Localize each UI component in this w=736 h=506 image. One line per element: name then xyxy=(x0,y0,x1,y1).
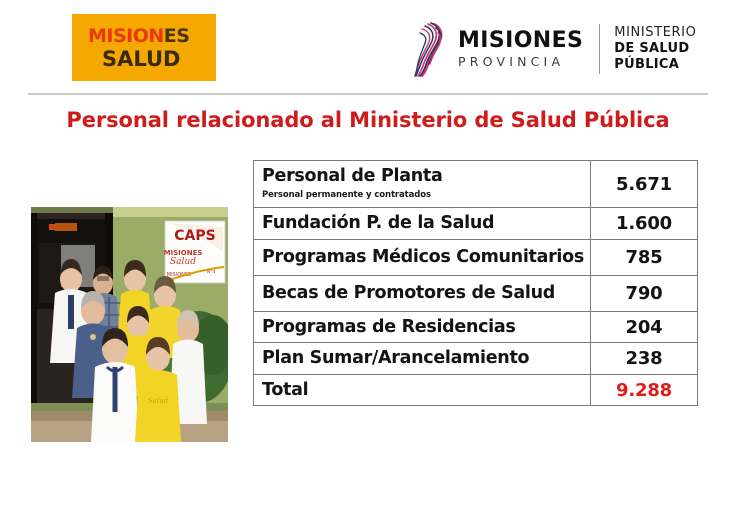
misiones-salud-logo-line1: MISIONES xyxy=(88,27,208,46)
table-cell-label: Programas de Residencias xyxy=(254,311,591,342)
table-row: Becas de Promotores de Salud 790 xyxy=(254,275,698,311)
table-row-total: Total 9.288 xyxy=(254,374,698,405)
slide-root: MISIONES SALUD xyxy=(0,0,736,506)
svg-text:Salud: Salud xyxy=(170,257,196,267)
row-value: 238 xyxy=(591,343,698,374)
slide-header: MISIONES SALUD xyxy=(0,0,736,94)
row-value: 1.600 xyxy=(591,208,698,239)
row-label: Programas de Residencias xyxy=(262,317,516,337)
row-label-total: Total xyxy=(262,380,308,400)
province-ministry-lockup: MISIONES PROVINCIA MINISTERIO DE SALUD P… xyxy=(412,18,736,80)
province-name: MISIONES xyxy=(458,30,583,52)
ministry-name-group: MINISTERIO DE SALUD PÚBLICA xyxy=(614,25,736,74)
table-cell-label: Fundación P. de la Salud xyxy=(254,208,591,239)
table-cell-label: Becas de Promotores de Salud xyxy=(254,275,591,311)
table-cell-label: Programas Médicos Comunitarios xyxy=(254,239,591,275)
row-value: 790 xyxy=(591,275,698,311)
row-label: Personal de Planta xyxy=(262,166,442,186)
misiones-salud-logo-salud: SALUD xyxy=(88,49,208,70)
misiones-salud-logo-text: MISIONES SALUD xyxy=(88,27,208,70)
svg-text:MISIONES: MISIONES xyxy=(164,249,203,257)
row-label: Fundación P. de la Salud xyxy=(262,213,494,233)
table-cell-label: Plan Sumar/Arancelamiento xyxy=(254,343,591,374)
lockup-divider xyxy=(599,24,600,74)
ministry-line2: DE SALUD PÚBLICA xyxy=(614,41,736,74)
page-title: Personal relacionado al Ministerio de Sa… xyxy=(0,108,736,132)
province-subname: PROVINCIA xyxy=(458,56,583,69)
row-label: Programas Médicos Comunitarios xyxy=(262,247,584,267)
team-photo: CAPS MISIONES Salud MISIONES N°4 xyxy=(31,207,228,442)
svg-text:Salud: Salud xyxy=(148,397,169,405)
table-row: Programas de Residencias 204 xyxy=(254,311,698,342)
table-row: Plan Sumar/Arancelamiento 238 xyxy=(254,343,698,374)
row-label: Plan Sumar/Arancelamiento xyxy=(262,348,529,368)
table-row: Fundación P. de la Salud 1.600 xyxy=(254,208,698,239)
row-label: Becas de Promotores de Salud xyxy=(262,283,555,303)
misiones-salud-logo-es: ES xyxy=(164,25,190,47)
ministry-line1: MINISTERIO xyxy=(614,25,736,41)
row-value: 785 xyxy=(591,239,698,275)
header-divider xyxy=(28,93,708,95)
row-value: 204 xyxy=(591,311,698,342)
row-sublabel: Personal permanente y contratados xyxy=(262,191,586,201)
misiones-salud-logo-mision: MISION xyxy=(88,25,164,47)
table-cell-label: Total xyxy=(254,374,591,405)
personnel-table: Personal de Planta Personal permanente y… xyxy=(253,160,698,406)
table-row: Personal de Planta Personal permanente y… xyxy=(254,161,698,208)
row-value-total: 9.288 xyxy=(591,374,698,405)
row-value: 5.671 xyxy=(591,161,698,208)
province-name-group: MISIONES PROVINCIA xyxy=(458,30,583,69)
table-row: Programas Médicos Comunitarios 785 xyxy=(254,239,698,275)
svg-text:CAPS: CAPS xyxy=(174,228,215,244)
misiones-fingerprint-map-icon xyxy=(412,20,448,78)
table-cell-label: Personal de Planta Personal permanente y… xyxy=(254,161,591,208)
personnel-table-body: Personal de Planta Personal permanente y… xyxy=(254,161,698,406)
